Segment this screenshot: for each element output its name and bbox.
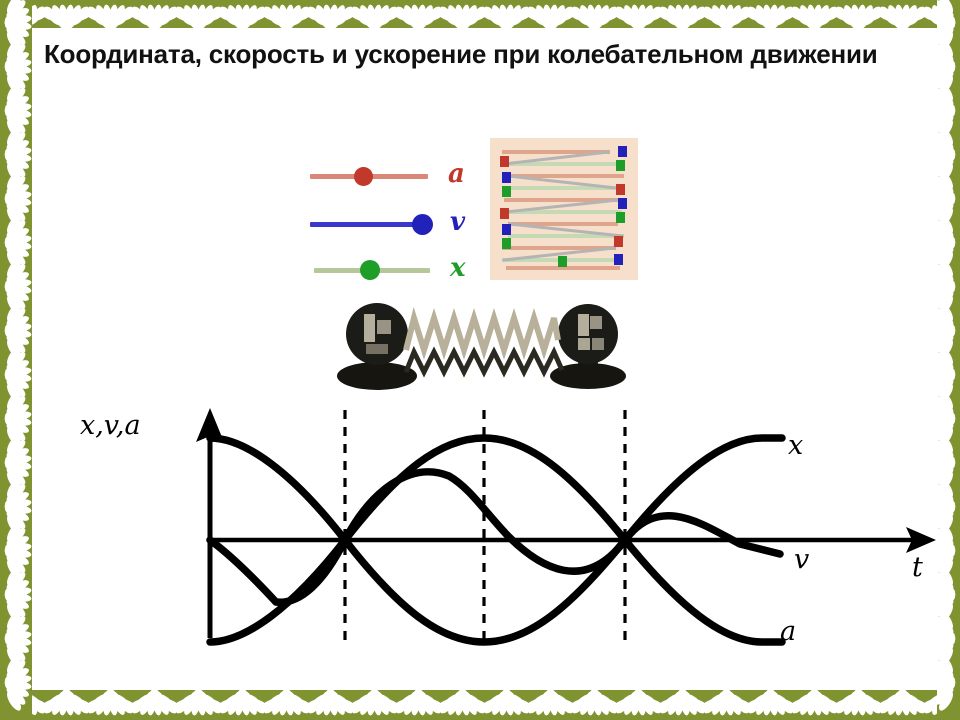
curve-label-a: a [780,616,796,647]
border-band-right [937,0,960,720]
border-band-bottom [0,690,960,720]
legend-label-x: x [450,252,466,284]
border-band-top [0,0,960,30]
curve-label-x: x [788,430,803,461]
border-band-left [0,0,32,720]
y-axis-label: x,v,a [80,410,141,441]
spring-coil-upper [406,318,558,350]
slide-content-card: Координата, скорость и ускорение при кол… [32,28,938,690]
legend-marker-x [360,260,380,280]
daisy-band-top-svg [0,0,960,30]
legend-marker-v [412,214,433,235]
curve-v [210,472,780,602]
legend-line-v [310,222,420,227]
legend-row-v: v [272,204,492,244]
t-axis-label: t [912,552,923,583]
oscillation-graph [40,376,938,676]
vector-legend: a v x [272,138,492,288]
curve-label-v: v [794,544,809,575]
thumbnail-svg [490,138,638,280]
oscillation-strip-thumbnail [490,138,638,280]
legend-row-x: x [272,250,492,290]
legend-row-a: a [272,156,492,196]
legend-label-a: a [448,158,465,190]
slide-canvas: Координата, скорость и ускорение при кол… [0,0,960,720]
legend-marker-a [354,167,373,186]
legend-label-v: v [450,206,465,238]
daisy-band-right-svg [937,0,960,720]
t-axis [210,527,936,553]
page-title: Координата, скорость и ускорение при кол… [44,38,924,71]
gridline-group [345,410,625,644]
daisy-band-left-svg [0,0,32,720]
daisy-band-bottom-svg [0,690,960,720]
